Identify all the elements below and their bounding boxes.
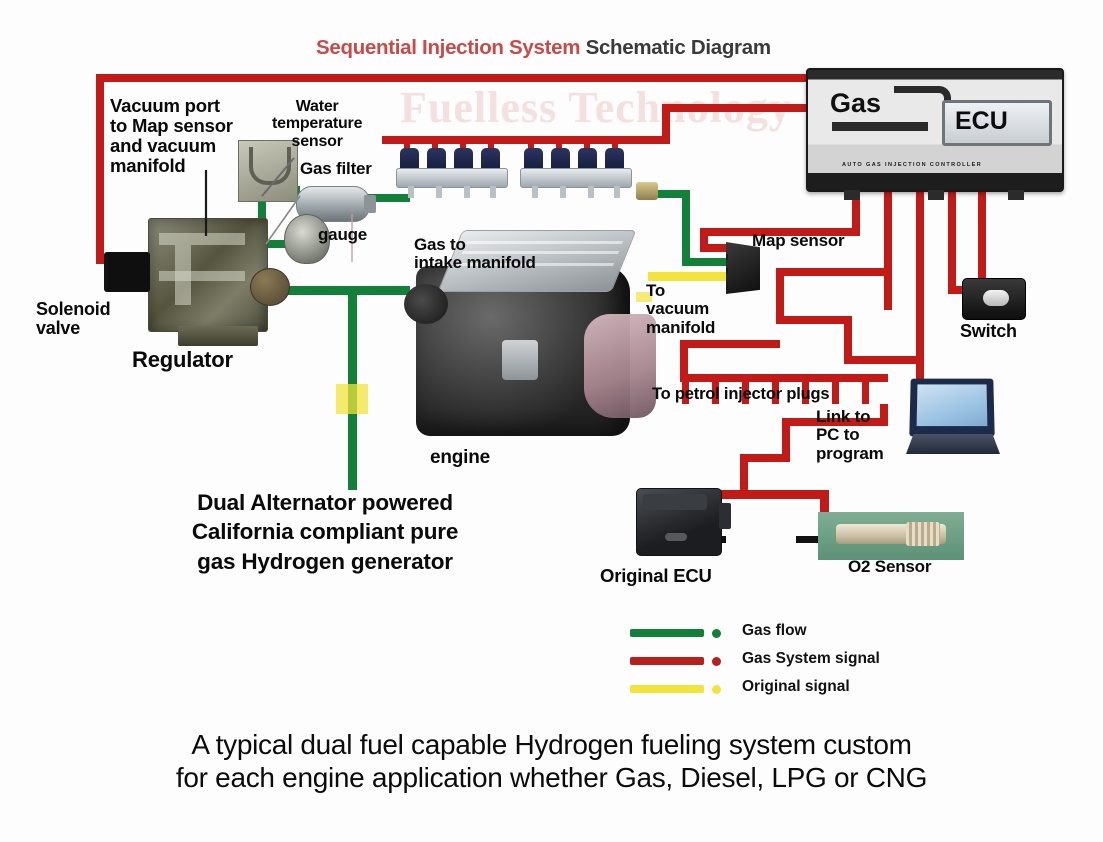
legend-swatch-gas-system-signal xyxy=(630,657,704,665)
gas-injector-rail xyxy=(520,152,630,198)
red-wire-mid-bus xyxy=(776,268,888,276)
gas-injector-nipple xyxy=(588,186,594,198)
green-wire-vacuum-riser xyxy=(682,190,690,266)
engine-intake-pipe xyxy=(404,284,448,324)
map-sensor-pin xyxy=(718,282,728,288)
ecu-bar-graphic xyxy=(832,122,928,131)
ecu-gas-label: Gas xyxy=(830,88,881,119)
caption-line-2: for each engine application whether Gas,… xyxy=(0,761,1103,794)
rail-outlet-fitting xyxy=(636,182,658,200)
title-highlight: Sequential Injection System xyxy=(316,36,580,59)
label-to-vacuum-manifold: To vacuum manifold xyxy=(646,282,715,337)
caption-line-1: A typical dual fuel capable Hydrogen fue… xyxy=(0,728,1103,761)
gas-injector-rail-base xyxy=(520,168,632,188)
vacuum-port-box xyxy=(108,252,150,292)
label-original-ecu: Original ECU xyxy=(600,566,712,586)
label-switch: Switch xyxy=(960,322,1017,341)
legend-swatch-gas-flow xyxy=(630,629,704,637)
gas-injector-nipple xyxy=(490,186,496,198)
label-map-sensor: Map sensor xyxy=(752,232,844,250)
page-title: Sequential Injection System Schematic Di… xyxy=(316,36,771,60)
gas-injector-rail-base xyxy=(396,168,508,188)
red-wire-top-bus xyxy=(96,74,812,82)
gas-injector-nipple xyxy=(614,186,620,198)
label-hydrogen-generator: Dual Alternator powered California compl… xyxy=(150,488,500,576)
gas-injector-rail xyxy=(396,152,506,198)
red-wire-tee-bus xyxy=(712,490,828,499)
gas-injector-nipple xyxy=(408,186,414,198)
red-wire-map-sensor-pin xyxy=(700,244,730,252)
legend-row: Gas System signal xyxy=(630,648,960,676)
ecu-mount-tab xyxy=(928,190,944,200)
label-to-petrol-injector-plugs: To petrol injector plugs xyxy=(652,386,829,404)
gas-ecu-module[interactable]: Gas ECU AUTO GAS INJECTION CONTROLLER xyxy=(806,68,1064,192)
label-gas-filter: Gas filter xyxy=(300,160,372,178)
regulator-detail xyxy=(175,245,191,305)
caption: A typical dual fuel capable Hydrogen fue… xyxy=(0,728,1103,794)
label-solenoid-valve: Solenoid valve xyxy=(36,300,110,339)
gas-injector-nipple xyxy=(560,186,566,198)
ecu-window: ECU xyxy=(942,100,1052,146)
legend-label-gas-flow: Gas flow xyxy=(742,622,807,640)
red-wire-petrol-comb-top xyxy=(680,340,780,348)
laptop-screen xyxy=(917,384,988,426)
ecu-window-label: ECU xyxy=(955,107,1008,136)
legend-label-original-signal: Original signal xyxy=(742,678,850,696)
ecu-fine-print: AUTO GAS INJECTION CONTROLLER xyxy=(842,162,1028,171)
legend-row: Original signal xyxy=(630,676,960,704)
red-wire-mid-lower-bus xyxy=(844,356,924,364)
red-wire-petrol-tooth xyxy=(832,374,839,404)
laptop-lid xyxy=(909,379,994,437)
gas-injector-nipple xyxy=(532,186,538,198)
regulator-detail xyxy=(159,233,245,245)
yellow-wire-map-feed xyxy=(648,272,734,281)
laptop[interactable] xyxy=(906,378,1000,464)
red-wire-ecu-trunk-2 xyxy=(884,190,892,310)
legend-row: Gas flow xyxy=(630,620,960,648)
label-regulator: Regulator xyxy=(132,348,233,372)
legend: Gas flow Gas System signal Original sign… xyxy=(630,620,960,704)
regulator-knob xyxy=(250,268,290,306)
label-gas-to-intake-manifold: Gas to intake manifold xyxy=(414,236,536,273)
regulator-base xyxy=(178,326,258,346)
regulator-detail xyxy=(159,271,245,281)
laptop-base xyxy=(906,434,1000,454)
red-wire-injector-bus xyxy=(382,136,670,144)
engine-hose xyxy=(502,340,538,380)
switch-button[interactable] xyxy=(983,290,1009,306)
o2-sensor-threads xyxy=(906,522,940,546)
label-gauge: gauge xyxy=(318,226,367,244)
red-wire-petrol-tooth xyxy=(862,374,869,404)
red-wire-injector-bus-upper xyxy=(662,104,810,112)
title-rest: Schematic Diagram xyxy=(580,36,771,59)
gas-injector-nipple xyxy=(464,186,470,198)
original-ecu-knob xyxy=(665,533,687,541)
red-wire-ecu-trunk-5 xyxy=(978,190,986,282)
red-wire-mid-lower xyxy=(776,316,852,324)
legend-label-gas-system-signal: Gas System signal xyxy=(742,650,880,668)
ecu-mount-tab xyxy=(844,190,860,200)
original-ecu-top xyxy=(643,494,707,510)
red-wire-ecu-trunk-4 xyxy=(948,190,956,294)
schematic-canvas: Fuelless Technology Sequential Injection… xyxy=(0,0,1103,842)
red-wire-left-vertical xyxy=(96,74,104,264)
label-vacuum-port: Vacuum port to Map sensor and vacuum man… xyxy=(110,96,233,176)
ecu-mount-tab xyxy=(1008,190,1024,200)
legend-dot-gas-system-signal xyxy=(712,657,721,666)
original-ecu-connector xyxy=(719,503,731,529)
label-water-temperature-sensor: Water temperature sensor xyxy=(272,98,362,150)
wts-hook-graphic xyxy=(249,147,291,185)
legend-swatch-original-signal xyxy=(630,685,704,693)
o2-sensor xyxy=(818,512,964,560)
switch-module[interactable] xyxy=(962,278,1026,320)
gas-filter-outlet xyxy=(364,195,376,213)
label-engine: engine xyxy=(430,448,490,469)
legend-dot-gas-flow xyxy=(712,629,721,638)
label-o2-sensor: O2 Sensor xyxy=(848,558,931,576)
regulator xyxy=(148,218,268,332)
yellow-wire-engine-spot xyxy=(336,384,368,414)
gas-injector-nipple xyxy=(436,186,442,198)
legend-dot-original-signal xyxy=(712,685,721,694)
label-link-to-pc: Link to PC to program xyxy=(816,408,884,463)
original-ecu-module xyxy=(636,488,722,556)
